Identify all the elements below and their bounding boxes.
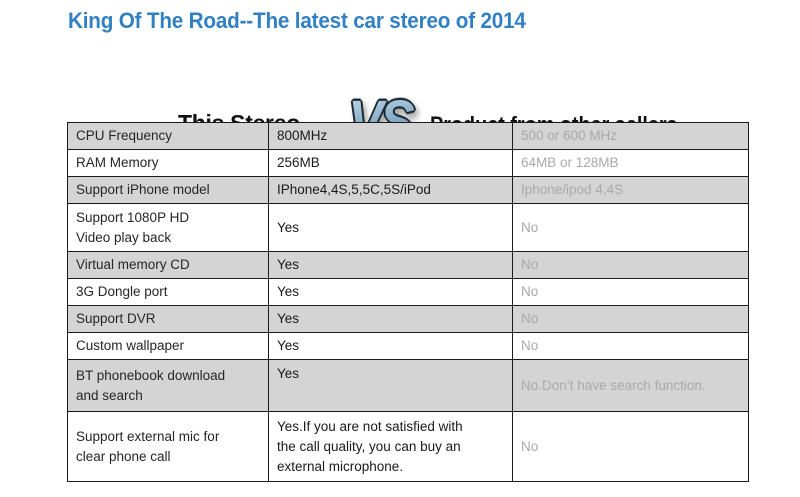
feature-cell: RAM Memory — [68, 150, 269, 177]
table-row: Virtual memory CDYesNo — [68, 252, 749, 279]
cell-line: CPU Frequency — [76, 126, 260, 146]
cell-line: RAM Memory — [76, 153, 260, 173]
cell-line: 64MB or 128MB — [521, 153, 740, 173]
table-row: 3G Dongle portYesNo — [68, 279, 749, 306]
other-sellers-cell: 500 or 600 MHz — [513, 123, 749, 150]
cell-line: Yes — [277, 309, 504, 329]
cell-line: No — [521, 309, 740, 329]
this-stereo-cell: Yes — [269, 279, 513, 306]
other-sellers-cell: No — [513, 204, 749, 252]
table-row: BT phonebook downloadand searchYesNo.Don… — [68, 360, 749, 412]
this-stereo-cell: IPhone4,4S,5,5C,5S/iPod — [269, 177, 513, 204]
other-sellers-cell: Iphone/ipod 4,4S — [513, 177, 749, 204]
table-row: Custom wallpaperYesNo — [68, 333, 749, 360]
cell-line: 3G Dongle port — [76, 282, 260, 302]
feature-cell: Virtual memory CD — [68, 252, 269, 279]
cell-line: No — [521, 255, 740, 275]
other-sellers-cell: No — [513, 412, 749, 482]
cell-line: 256MB — [277, 153, 504, 173]
cell-line: 800MHz — [277, 126, 504, 146]
feature-cell: Custom wallpaper — [68, 333, 269, 360]
cell-line: and search — [76, 386, 260, 406]
cell-line: Yes — [277, 336, 504, 356]
cell-line: Yes — [277, 218, 504, 238]
cell-line: Yes — [277, 364, 504, 384]
cell-line: Yes.If you are not satisfied with — [277, 417, 504, 437]
cell-line: No — [521, 336, 740, 356]
table-row: CPU Frequency800MHz500 or 600 MHz — [68, 123, 749, 150]
comparison-table-body: CPU Frequency800MHz500 or 600 MHzRAM Mem… — [68, 123, 749, 482]
page-title: King Of The Road--The latest car stereo … — [68, 8, 526, 34]
feature-cell: Support DVR — [68, 306, 269, 333]
cell-line: Support iPhone model — [76, 180, 260, 200]
this-stereo-cell: Yes — [269, 252, 513, 279]
table-row: Support iPhone modelIPhone4,4S,5,5C,5S/i… — [68, 177, 749, 204]
feature-cell: Support external mic forclear phone call — [68, 412, 269, 482]
cell-line: Video play back — [76, 228, 260, 248]
comparison-table: CPU Frequency800MHz500 or 600 MHzRAM Mem… — [67, 122, 749, 482]
table-row: Support 1080P HDVideo play backYesNo — [68, 204, 749, 252]
cell-line: the call quality, you can buy an — [277, 437, 504, 457]
this-stereo-cell: 800MHz — [269, 123, 513, 150]
cell-line: IPhone4,4S,5,5C,5S/iPod — [277, 180, 504, 200]
feature-cell: 3G Dongle port — [68, 279, 269, 306]
this-stereo-cell: Yes — [269, 360, 513, 412]
this-stereo-cell: Yes — [269, 306, 513, 333]
cell-line: Virtual memory CD — [76, 255, 260, 275]
other-sellers-cell: 64MB or 128MB — [513, 150, 749, 177]
versus-header: This Stereo VS Product from other seller… — [0, 48, 800, 108]
cell-line: Support external mic for — [76, 427, 260, 447]
other-sellers-cell: No — [513, 252, 749, 279]
feature-cell: BT phonebook downloadand search — [68, 360, 269, 412]
other-sellers-cell: No — [513, 333, 749, 360]
feature-cell: CPU Frequency — [68, 123, 269, 150]
cell-line: Support 1080P HD — [76, 208, 260, 228]
table-row: Support external mic forclear phone call… — [68, 412, 749, 482]
feature-cell: Support 1080P HDVideo play back — [68, 204, 269, 252]
cell-line: Yes — [277, 282, 504, 302]
cell-line: Support DVR — [76, 309, 260, 329]
cell-line: Iphone/ipod 4,4S — [521, 180, 740, 200]
this-stereo-cell: 256MB — [269, 150, 513, 177]
cell-line: 500 or 600 MHz — [521, 126, 740, 146]
cell-line: Yes — [277, 255, 504, 275]
cell-line: No.Don’t have search function. — [521, 376, 740, 396]
comparison-page: King Of The Road--The latest car stereo … — [0, 0, 800, 497]
this-stereo-cell: Yes.If you are not satisfied withthe cal… — [269, 412, 513, 482]
cell-line: Custom wallpaper — [76, 336, 260, 356]
this-stereo-cell: Yes — [269, 204, 513, 252]
other-sellers-cell: No.Don’t have search function. — [513, 360, 749, 412]
other-sellers-cell: No — [513, 306, 749, 333]
table-row: RAM Memory256MB64MB or 128MB — [68, 150, 749, 177]
this-stereo-cell: Yes — [269, 333, 513, 360]
cell-line: No — [521, 218, 740, 238]
feature-cell: Support iPhone model — [68, 177, 269, 204]
cell-line: clear phone call — [76, 447, 260, 467]
cell-line: No — [521, 437, 740, 457]
cell-line: external microphone. — [277, 457, 504, 477]
other-sellers-cell: No — [513, 279, 749, 306]
cell-line: BT phonebook download — [76, 366, 260, 386]
table-row: Support DVRYesNo — [68, 306, 749, 333]
cell-line: No — [521, 282, 740, 302]
